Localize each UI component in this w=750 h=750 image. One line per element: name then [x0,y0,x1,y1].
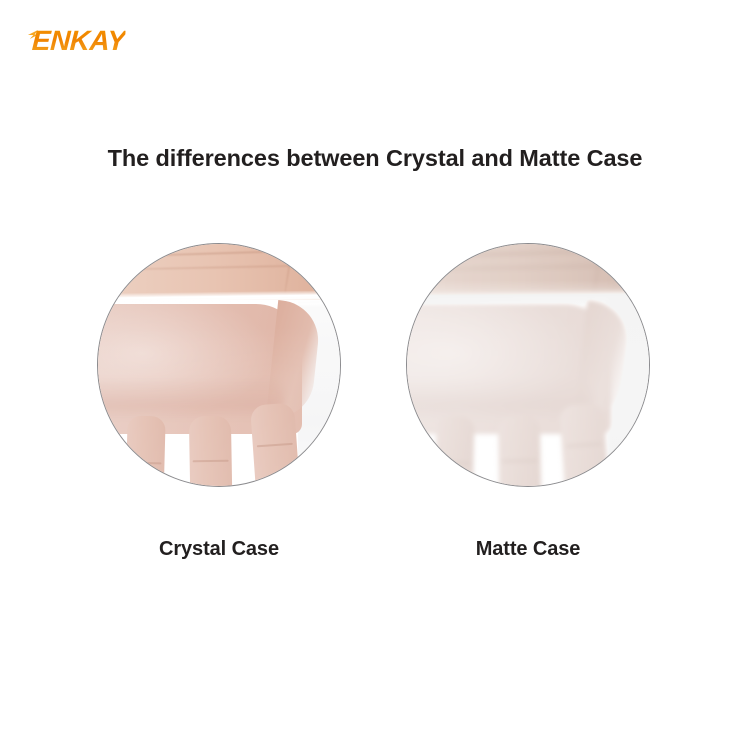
photo-matte-case [406,243,650,487]
finger [498,416,542,487]
palm-crease [114,263,341,270]
page-title: The differences between Crystal and Matt… [0,145,750,172]
skin-through-case [97,304,341,487]
finger [97,407,104,487]
finger [189,416,233,487]
skin-through-case [406,304,650,487]
finger [250,403,302,487]
photo-crystal-case [97,243,341,487]
palm-crease [97,247,341,258]
finger [124,416,165,487]
finger [406,407,413,487]
palm-crease [406,247,650,258]
palm-crease [423,263,650,270]
finger [433,416,474,487]
caption-crystal-case: Crystal Case [97,538,341,561]
comparison-stage [0,243,750,488]
hand-scene-crystal [97,243,341,487]
brand-name: ENKAY [31,27,126,55]
finger [559,403,611,487]
hand-scene-matte [406,243,650,487]
caption-matte-case: Matte Case [406,538,650,561]
